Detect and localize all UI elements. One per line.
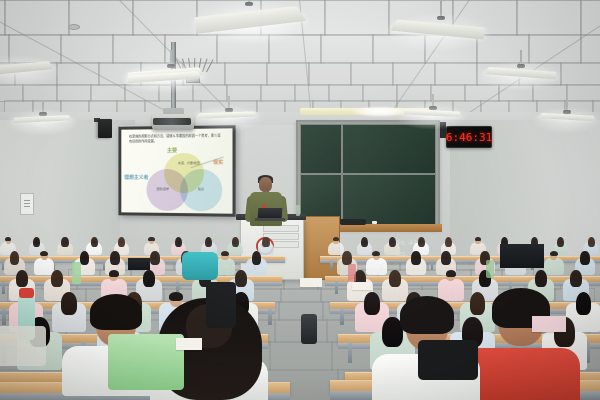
student-hair <box>235 270 247 288</box>
student-hair <box>446 270 456 277</box>
student-hair <box>33 237 40 248</box>
student-hair <box>576 292 592 315</box>
notebook <box>176 338 202 350</box>
desk-leg <box>348 342 352 363</box>
student-hair <box>364 292 380 315</box>
student-hair <box>5 237 11 241</box>
student-hair <box>361 237 368 248</box>
bottle-cap <box>19 288 34 298</box>
venn-label-left: 理想主义者 <box>124 175 148 181</box>
student-hair <box>262 237 269 248</box>
backpack <box>182 252 218 280</box>
student-laptop <box>128 258 150 270</box>
student-hair <box>580 251 589 265</box>
student-hair <box>232 237 239 248</box>
student-hair <box>40 251 48 257</box>
lecturer-water-bottle <box>296 205 300 216</box>
desk-leg <box>2 308 6 325</box>
paper-notice <box>20 193 34 215</box>
backpack <box>418 340 478 380</box>
student-hair <box>588 237 595 248</box>
notebook <box>532 316 566 332</box>
water-bottle <box>348 264 356 282</box>
student-hair <box>150 251 159 265</box>
student-hair <box>143 270 155 288</box>
student-hair <box>10 251 19 265</box>
student-hair <box>445 237 452 248</box>
student-hair <box>61 292 77 315</box>
chalkboard-panel: No. 441 Yes. 442 <box>342 174 436 225</box>
student-torso <box>328 242 344 255</box>
student-hair <box>109 270 119 277</box>
student-hair <box>389 270 401 288</box>
tote-bag <box>108 334 184 390</box>
desk-leg <box>2 281 5 295</box>
desk-leg <box>330 260 333 271</box>
podium-laptop-base <box>255 218 285 221</box>
desk-leg <box>268 308 272 325</box>
student-hair <box>175 237 182 248</box>
student-laptop <box>500 244 544 268</box>
student-hair <box>557 237 564 248</box>
student-hair <box>91 237 98 248</box>
seated-students <box>0 230 600 400</box>
notebook <box>352 282 372 290</box>
notebook <box>300 278 322 287</box>
venn-inner-label-right: 知识 <box>198 187 204 191</box>
student-hair <box>169 292 182 302</box>
student-hair <box>418 237 425 248</box>
desk-leg <box>340 308 344 325</box>
student-hair <box>342 251 351 265</box>
student-hair <box>535 270 547 288</box>
student-hair <box>61 237 68 248</box>
chalk-piece <box>372 221 377 224</box>
student-torso <box>544 258 564 275</box>
student-hair <box>333 237 339 241</box>
student-hair <box>441 251 450 265</box>
student-hair <box>252 251 261 265</box>
student-hair <box>550 251 558 257</box>
student-hair <box>118 237 125 248</box>
student-hair <box>475 237 481 241</box>
student-torso <box>366 258 386 275</box>
venn-inner-label-left: 自知/自学 <box>156 187 169 191</box>
ceiling-lights <box>0 0 600 150</box>
student-hair <box>389 237 396 248</box>
water-bottle <box>301 314 317 344</box>
student-hair <box>205 237 212 248</box>
backpack <box>206 282 236 328</box>
water-bottle <box>486 260 494 278</box>
student-hair <box>400 296 454 334</box>
blackboard-eraser <box>340 219 366 225</box>
water-bottle <box>72 262 81 284</box>
smoke-detector-icon <box>68 24 80 30</box>
desk-leg <box>335 281 338 295</box>
student-hair <box>80 251 89 265</box>
lecture-hall-photo: 6:46:31 No. 441 Yes. 442 在思维的视野方式和方法，能够从… <box>0 0 600 400</box>
student-hair <box>90 294 142 330</box>
podium-laptop-screen <box>258 208 283 218</box>
handbag <box>0 326 46 366</box>
student-hair <box>148 237 154 241</box>
student-hair <box>110 251 119 265</box>
student-hair <box>470 292 486 315</box>
student-hair <box>570 270 582 288</box>
student-hair <box>16 270 28 288</box>
student-hair <box>411 251 420 265</box>
desk-leg <box>431 260 434 271</box>
student-torso <box>438 279 464 301</box>
student-hair <box>51 270 63 288</box>
student-hair <box>221 251 229 257</box>
